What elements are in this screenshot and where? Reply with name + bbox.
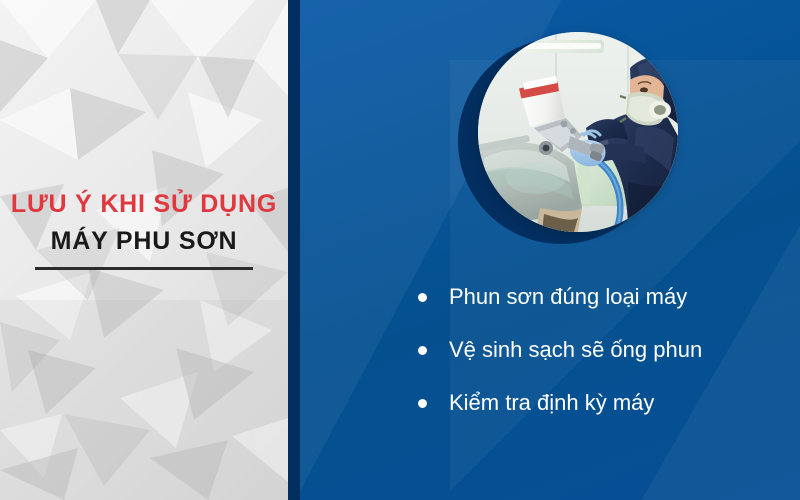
right-panel: Phun sơn đúng loại máy Vệ sinh sạch sẽ ố… bbox=[300, 0, 800, 500]
bullet-dot-icon bbox=[418, 293, 427, 302]
left-panel: LƯU Ý KHI SỬ DỤNG MÁY PHU SƠN bbox=[0, 0, 288, 500]
list-item: Kiểm tra định kỳ máy bbox=[418, 389, 788, 442]
list-item-label: Vệ sinh sạch sẽ ống phun bbox=[449, 336, 702, 364]
list-item: Phun sơn đúng loại máy bbox=[418, 283, 788, 336]
bullet-dot-icon bbox=[418, 346, 427, 355]
list-item-label: Phun sơn đúng loại máy bbox=[449, 283, 687, 311]
infographic-banner: LƯU Ý KHI SỬ DỤNG MÁY PHU SƠN bbox=[0, 0, 800, 500]
panel-divider bbox=[288, 0, 300, 500]
title-block: LƯU Ý KHI SỬ DỤNG MÁY PHU SƠN bbox=[0, 190, 288, 270]
spray-painter-illustration bbox=[478, 32, 678, 232]
title-underline-rule bbox=[35, 267, 253, 270]
page-title-primary: LƯU Ý KHI SỬ DỤNG bbox=[0, 190, 288, 219]
bullet-list: Phun sơn đúng loại máy Vệ sinh sạch sẽ ố… bbox=[418, 283, 788, 442]
page-title-secondary: MÁY PHU SƠN bbox=[0, 227, 288, 256]
bullet-dot-icon bbox=[418, 399, 427, 408]
list-item-label: Kiểm tra định kỳ máy bbox=[449, 389, 654, 417]
spray-painter-photo bbox=[478, 32, 678, 232]
list-item: Vệ sinh sạch sẽ ống phun bbox=[418, 336, 788, 389]
